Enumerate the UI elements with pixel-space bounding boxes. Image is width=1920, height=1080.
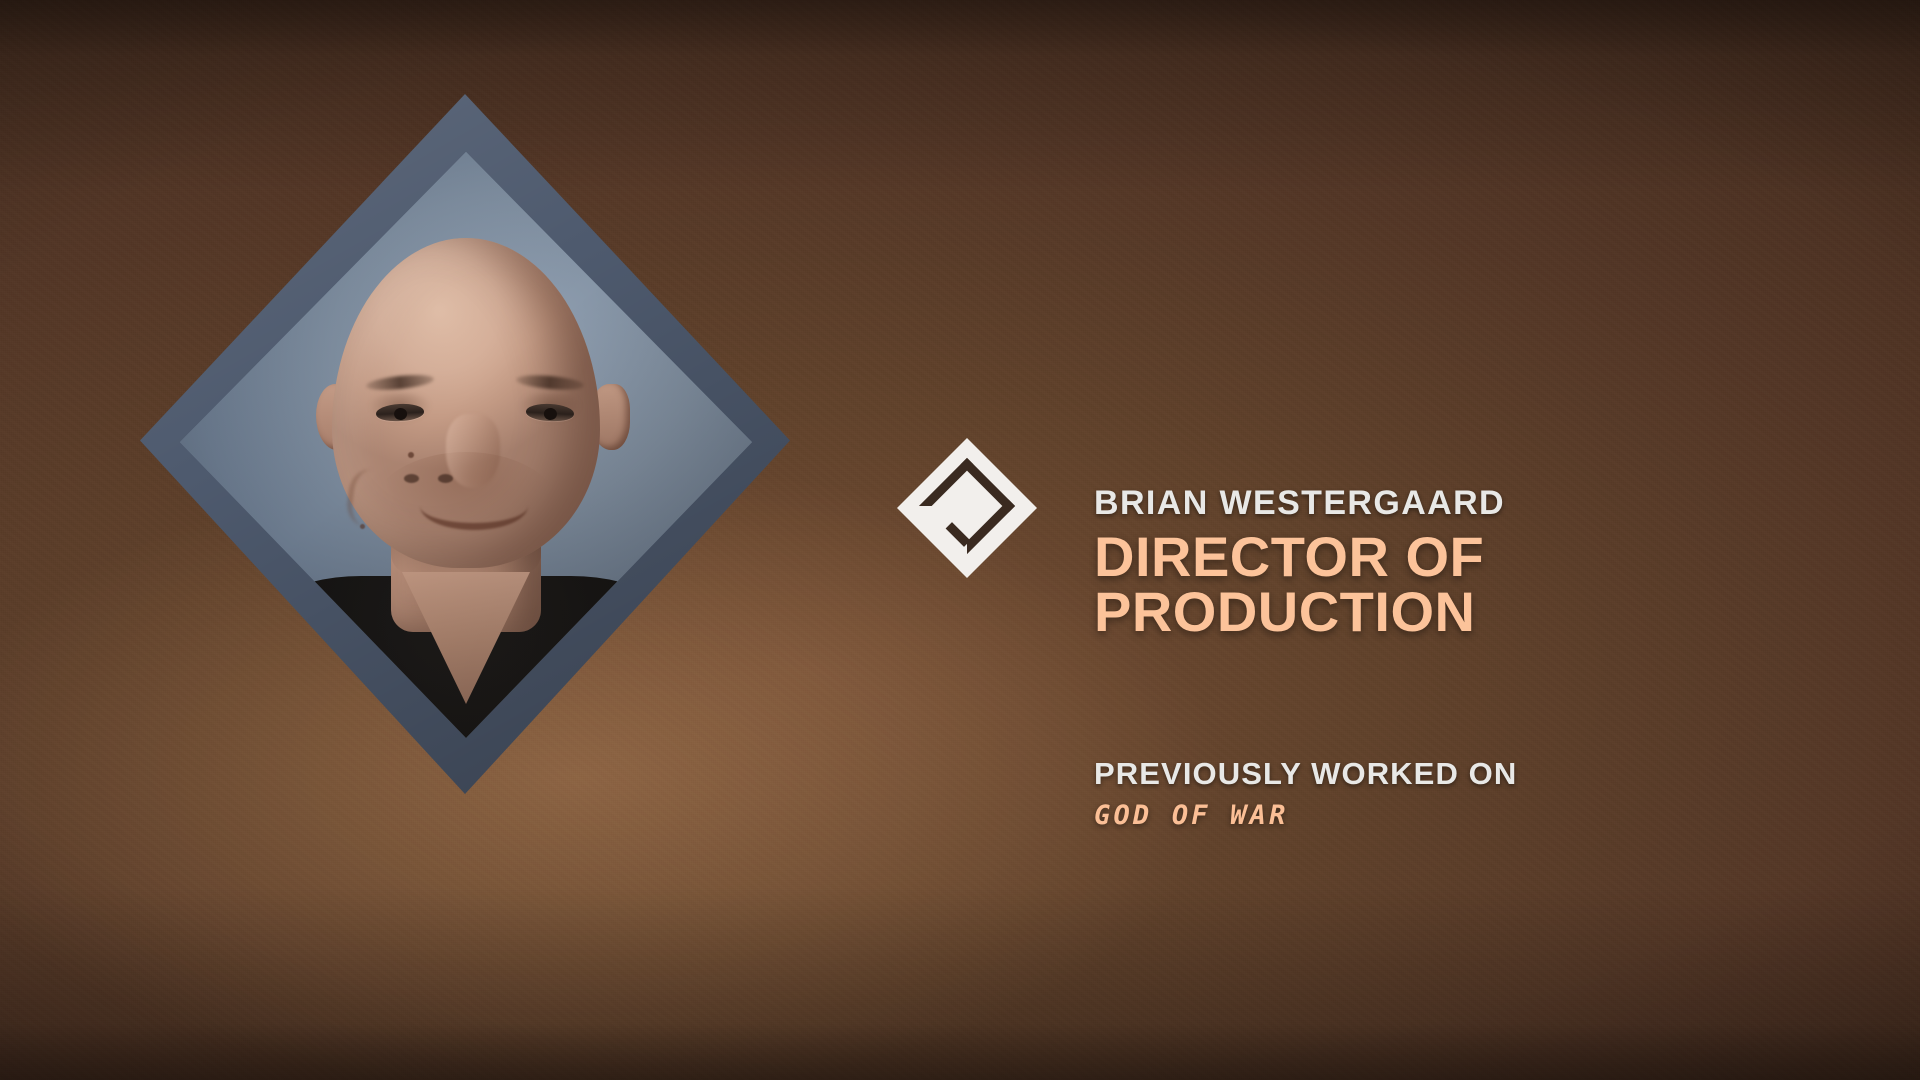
portrait-photo xyxy=(180,152,752,738)
previously-worked-on-block: PREVIOUSLY WORKED ON GOD OF WAR xyxy=(1094,758,1734,829)
previously-worked-on-label: PREVIOUSLY WORKED ON xyxy=(1094,758,1734,789)
person-name: BRIAN WESTERGAARD xyxy=(1094,486,1734,520)
previously-worked-on-title: GOD OF WAR xyxy=(1094,802,1734,829)
diamond-logo-icon xyxy=(897,438,1037,578)
credit-block: BRIAN WESTERGAARD DIRECTOR OF PRODUCTION xyxy=(1094,486,1734,640)
role-title-line-1: DIRECTOR OF xyxy=(1094,530,1734,585)
role-title: DIRECTOR OF PRODUCTION xyxy=(1094,530,1734,640)
portrait-diamond xyxy=(140,94,790,794)
photo-color-grade xyxy=(180,152,752,738)
role-title-line-2: PRODUCTION xyxy=(1094,585,1734,640)
credits-stage: BRIAN WESTERGAARD DIRECTOR OF PRODUCTION… xyxy=(0,0,1920,1080)
